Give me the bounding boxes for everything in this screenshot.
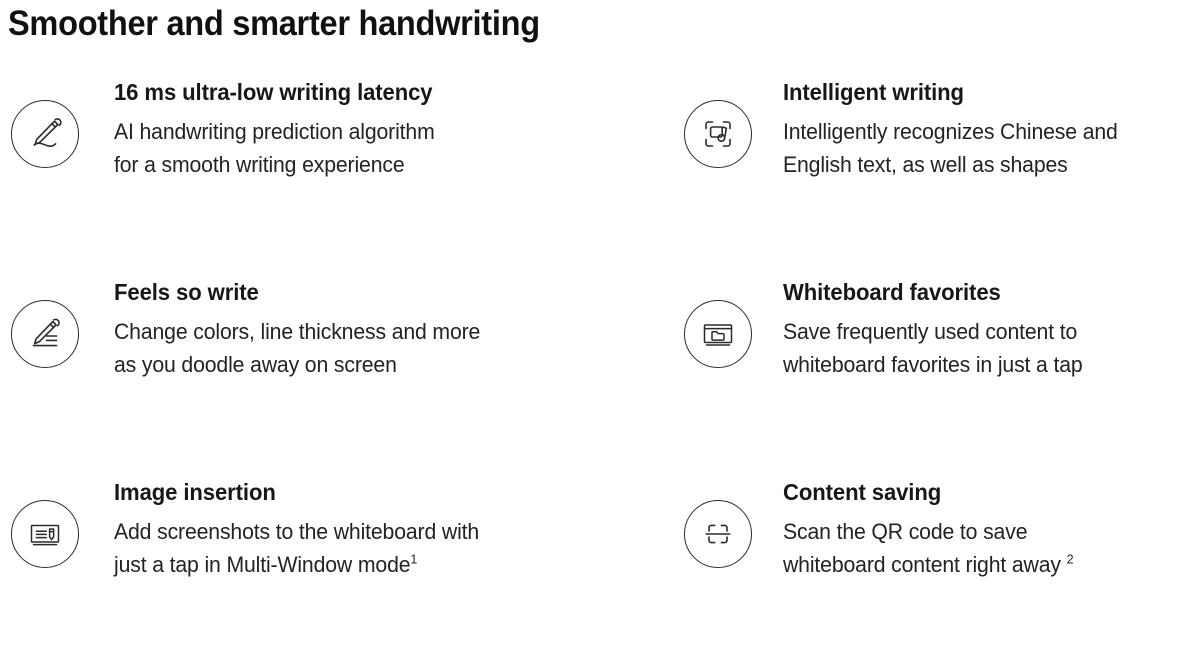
feature-description-with-footnote: Scan the QR code to save whiteboard cont…	[783, 515, 1073, 581]
pencil-stroke-icon	[11, 100, 79, 168]
feature-description: Intelligently recognizes Chinese and Eng…	[783, 115, 1118, 181]
feature-item-intelligent-writing: Intelligent writing Intelligently recogn…	[675, 72, 1200, 272]
feature-item-content-saving: Content saving Scan the QR code to save …	[675, 472, 1200, 672]
feature-title: Feels so write	[114, 279, 478, 307]
feature-text: Image insertion Add screenshots to the w…	[79, 472, 492, 581]
feature-title: 16 ms ultra-low writing latency	[114, 79, 433, 107]
feature-title: Intelligent writing	[783, 79, 1116, 107]
whiteboard-folder-icon	[684, 300, 752, 368]
feature-item-writing-latency: 16 ms ultra-low writing latency AI handw…	[0, 72, 675, 272]
smart-recognition-frame-icon	[684, 100, 752, 168]
feature-description: Save frequently used content to whiteboa…	[783, 315, 1083, 381]
footnote-marker: 2	[1066, 551, 1073, 566]
feature-description: AI handwriting prediction algorithm for …	[114, 115, 435, 181]
feature-row: 16 ms ultra-low writing latency AI handw…	[0, 72, 1200, 272]
feature-title: Whiteboard favorites	[783, 279, 1081, 307]
feature-text: Whiteboard favorites Save frequently use…	[752, 272, 1093, 381]
page-title: Smoother and smarter handwriting	[8, 4, 540, 44]
feature-grid-page: Smoother and smarter handwriting 16 ms u…	[0, 0, 1200, 622]
feature-text: Intelligent writing Intelligently recogn…	[752, 72, 1130, 181]
feature-title: Image insertion	[114, 479, 477, 507]
feature-title: Content saving	[783, 479, 1072, 507]
scan-frame-icon	[684, 500, 752, 568]
pencil-lines-icon	[11, 300, 79, 368]
feature-row: Image insertion Add screenshots to the w…	[0, 472, 1200, 672]
feature-text: Content saving Scan the QR code to save …	[752, 472, 1084, 581]
feature-text: 16 ms ultra-low writing latency AI handw…	[79, 72, 446, 181]
feature-description: Add screenshots to the whiteboard with j…	[114, 519, 479, 577]
feature-row: Feels so write Change colors, line thick…	[0, 272, 1200, 472]
feature-item-whiteboard-favorites: Whiteboard favorites Save frequently use…	[675, 272, 1200, 472]
board-pencil-icon	[11, 500, 79, 568]
feature-item-feels-so-write: Feels so write Change colors, line thick…	[0, 272, 675, 472]
features-grid: 16 ms ultra-low writing latency AI handw…	[0, 72, 1200, 672]
feature-item-image-insertion: Image insertion Add screenshots to the w…	[0, 472, 675, 672]
footnote-marker: 1	[410, 551, 417, 566]
feature-text: Feels so write Change colors, line thick…	[79, 272, 494, 381]
feature-description-with-footnote: Add screenshots to the whiteboard with j…	[114, 515, 479, 581]
feature-description: Scan the QR code to save whiteboard cont…	[783, 519, 1067, 577]
feature-description: Change colors, line thickness and more a…	[114, 315, 480, 381]
